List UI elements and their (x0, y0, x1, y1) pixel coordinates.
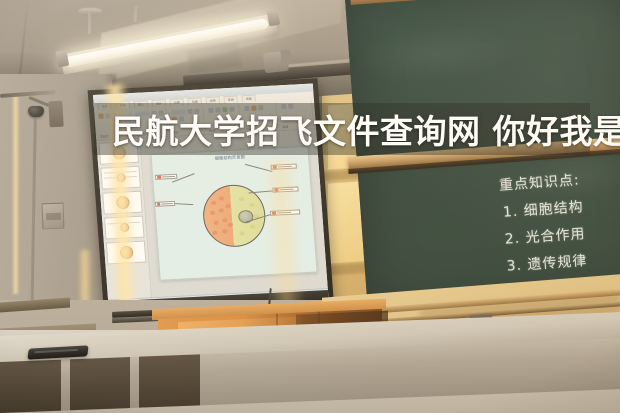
chalk-item: 1. 细胞结构 (500, 196, 584, 222)
wall-speaker (48, 101, 63, 128)
slide-thumbnail[interactable] (104, 216, 145, 240)
callout-label (155, 174, 177, 180)
paste-icon[interactable] (98, 114, 103, 119)
slide-canvas[interactable]: 细胞结构示意图 (140, 129, 327, 297)
tab-file[interactable]: 文件 (98, 102, 113, 110)
chalkboard-notes: 重点知识点: 1. 细胞结构 2. 光合作用 3. 遗传规律 (498, 169, 588, 283)
shelf-compartment (70, 353, 131, 410)
tab-slideshow[interactable]: 放映 (206, 96, 221, 104)
slide-thumbnail[interactable] (102, 191, 143, 215)
cell-diagram (201, 183, 267, 248)
chalk-item: 3. 遗传规律 (504, 250, 588, 276)
tab-view[interactable]: 视图 (242, 95, 257, 103)
cell-organelles (202, 184, 266, 247)
tab-review[interactable]: 审阅 (224, 95, 239, 103)
callout-label (155, 201, 175, 207)
callout-label (270, 163, 296, 169)
slide-thumbnail[interactable] (106, 241, 147, 265)
shelf-compartment (139, 350, 200, 407)
chalk-heading: 重点知识点: (498, 169, 582, 195)
chalk-item: 2. 光合作用 (502, 223, 586, 249)
wall-switch-plate[interactable] (42, 203, 65, 230)
callout-label (272, 186, 298, 192)
light-endcap (55, 50, 69, 68)
security-camera-icon (28, 106, 44, 117)
overlay-headline: 民航大学招飞文件查询网 你好我是本 (112, 104, 612, 154)
screen-bracket (280, 50, 291, 65)
ribbon-group-label: 剪贴板 (100, 134, 109, 138)
classroom-photo: 重点知识点: 1. 细胞结构 2. 光合作用 3. 遗传规律 文件 开始 插入 … (0, 0, 620, 413)
cut-icon[interactable] (105, 113, 110, 118)
light-rod (88, 12, 91, 34)
shelf-compartment (0, 356, 61, 413)
current-slide: 细胞结构示意图 (150, 146, 318, 281)
slide-thumbnail[interactable] (100, 166, 141, 190)
curtain-highlight (12, 96, 19, 294)
callout-line (245, 164, 272, 172)
presentation-workspace: 细胞结构示意图 (96, 129, 327, 299)
callout-label (270, 209, 300, 216)
